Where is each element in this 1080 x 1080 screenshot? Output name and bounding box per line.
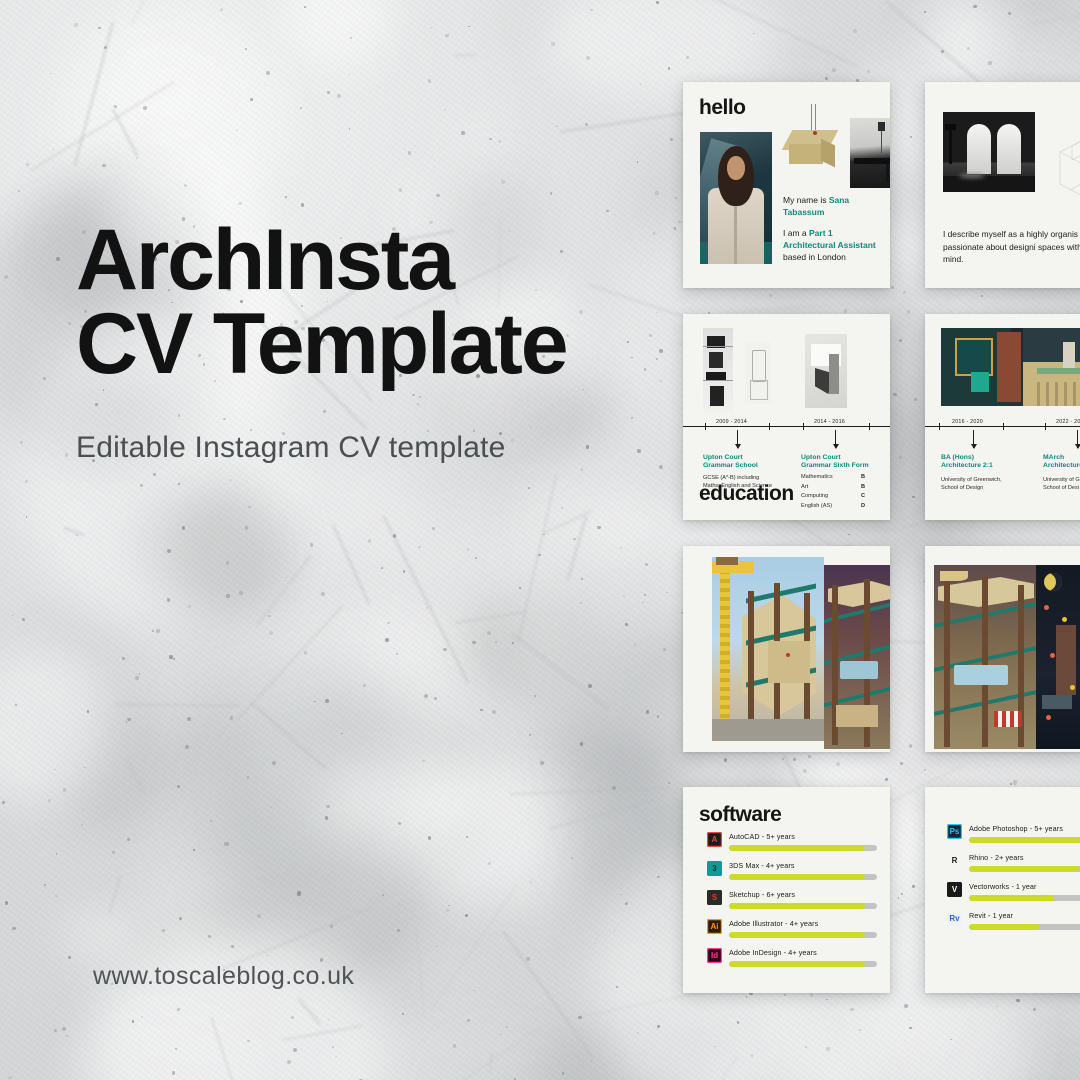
photoshop-icon: Ps bbox=[947, 824, 962, 839]
software-row[interactable]: VVectorworks - 1 year bbox=[947, 881, 1080, 901]
sketchup-icon: S bbox=[707, 890, 722, 905]
page-title: ArchInsta CV Template bbox=[76, 218, 696, 387]
role-line: I am a Part 1 Architectural Assistant ba… bbox=[783, 227, 883, 263]
hello-title: hello bbox=[699, 96, 746, 120]
revit-icon: Rv bbox=[947, 911, 962, 926]
rhino-icon: R bbox=[947, 853, 962, 868]
education-institution-4: MArch Architecture bbox=[1043, 454, 1080, 471]
software-label: Adobe Photoshop - 5+ years bbox=[969, 824, 1080, 833]
website-url: www.toscaleblog.co.uk bbox=[93, 962, 354, 991]
education-institution-3: BA (Hons) Architecture 2:1 bbox=[941, 454, 993, 471]
education-institution-1: Upton Court Grammar School bbox=[703, 454, 758, 471]
illustrator-icon: Ai bbox=[707, 919, 722, 934]
education-timeline-left bbox=[683, 426, 890, 427]
card-software-right[interactable]: PsAdobe Photoshop - 5+ yearsRRhino - 2+ … bbox=[925, 787, 1080, 993]
software-list-left: AAutoCAD - 5+ years33DS Max - 4+ yearsSS… bbox=[707, 831, 877, 976]
software-proficiency-bar bbox=[969, 866, 1080, 872]
software-row-body: Sketchup - 6+ years bbox=[729, 889, 877, 909]
portrait-photo bbox=[700, 132, 772, 264]
card-education-left[interactable]: 2009 - 2014 2014 - 2016 Upton Court Gram… bbox=[683, 314, 890, 520]
software-proficiency-fill bbox=[729, 932, 865, 938]
education-grades-list: MathematicsBArtBComputingCEnglish (AS)D bbox=[801, 473, 887, 511]
autocad-icon: A bbox=[707, 832, 722, 847]
software-label: Rhino - 2+ years bbox=[969, 853, 1080, 862]
grade-subject: English (AS) bbox=[801, 502, 832, 512]
grade-mark: C bbox=[861, 492, 887, 502]
card-portfolio-left[interactable] bbox=[683, 546, 890, 752]
software-proficiency-fill bbox=[969, 895, 1054, 901]
grade-subject: Computing bbox=[801, 492, 828, 502]
card-software-left[interactable]: software AAutoCAD - 5+ years33DS Max - 4… bbox=[683, 787, 890, 993]
card-about[interactable]: I describe myself as a highly organis in… bbox=[925, 82, 1080, 288]
grade-subject: Mathematics bbox=[801, 473, 833, 483]
card-hello[interactable]: hello My name is Sana Tabassum I am a Pa… bbox=[683, 82, 890, 288]
software-proficiency-fill bbox=[729, 961, 865, 967]
education-title: education bbox=[699, 482, 794, 506]
education-dates-1: 2009 - 2014 bbox=[713, 419, 750, 425]
software-proficiency-fill bbox=[969, 837, 1080, 843]
software-proficiency-bar bbox=[729, 874, 877, 880]
software-label: Vectorworks - 1 year bbox=[969, 882, 1080, 891]
software-row-body: AutoCAD - 5+ years bbox=[729, 831, 877, 851]
software-label: AutoCAD - 5+ years bbox=[729, 832, 877, 841]
name-line: My name is Sana Tabassum bbox=[783, 194, 883, 218]
education-render-image bbox=[941, 328, 1080, 406]
suspended-model-icon bbox=[783, 104, 843, 174]
software-row[interactable]: RRhino - 2+ years bbox=[947, 852, 1080, 872]
grade-mark: D bbox=[861, 502, 887, 512]
card-education-right[interactable]: 2016 - 2020 2022 - 2023 BA (Hons) Archit… bbox=[925, 314, 1080, 520]
education-image-2 bbox=[745, 342, 771, 404]
isometric-drawing-icon bbox=[1050, 106, 1080, 226]
software-row-body: Revit - 1 year bbox=[969, 910, 1080, 930]
software-proficiency-bar bbox=[729, 932, 877, 938]
software-row[interactable]: SSketchup - 6+ years bbox=[707, 889, 877, 909]
software-row[interactable]: RvRevit - 1 year bbox=[947, 910, 1080, 930]
software-proficiency-fill bbox=[729, 845, 865, 851]
software-proficiency-fill bbox=[969, 924, 1040, 930]
hello-body-text: My name is Sana Tabassum I am a Part 1 A… bbox=[783, 194, 883, 272]
vectorworks-icon: V bbox=[947, 882, 962, 897]
concrete-background bbox=[0, 0, 1080, 1080]
isometric-render-night bbox=[1036, 565, 1080, 749]
software-label: 3DS Max - 4+ years bbox=[729, 861, 877, 870]
software-title: software bbox=[699, 803, 781, 827]
education-dates-3: 2016 - 2020 bbox=[949, 419, 986, 425]
card-portfolio-right[interactable] bbox=[925, 546, 1080, 752]
software-proficiency-fill bbox=[969, 866, 1079, 872]
software-proficiency-bar bbox=[969, 924, 1080, 930]
arched-windows-photo bbox=[943, 112, 1035, 192]
education-description-4: University of G School of Desi bbox=[1043, 476, 1080, 492]
software-proficiency-bar bbox=[729, 845, 877, 851]
grade-row: ArtB bbox=[801, 483, 887, 493]
isometric-render-dusk bbox=[824, 565, 890, 749]
software-proficiency-bar bbox=[969, 837, 1080, 843]
education-image-1 bbox=[703, 328, 733, 414]
page-subtitle: Editable Instagram CV template bbox=[76, 431, 696, 465]
software-row[interactable]: IdAdobe InDesign - 4+ years bbox=[707, 947, 877, 967]
isometric-render-interior bbox=[934, 565, 1036, 749]
education-description-3: University of Greenwich, School of Desig… bbox=[941, 476, 1002, 492]
software-row-body: 3DS Max - 4+ years bbox=[729, 860, 877, 880]
education-institution-2: Upton Court Grammar Sixth Form bbox=[801, 454, 869, 471]
grade-row: MathematicsB bbox=[801, 473, 887, 483]
studio-photo bbox=[850, 118, 890, 188]
software-proficiency-bar bbox=[969, 895, 1080, 901]
grade-subject: Art bbox=[801, 483, 808, 493]
software-row-body: Vectorworks - 1 year bbox=[969, 881, 1080, 901]
education-dates-4: 2022 - 2023 bbox=[1053, 419, 1080, 425]
grade-mark: B bbox=[861, 483, 887, 493]
software-label: Adobe InDesign - 4+ years bbox=[729, 948, 877, 957]
grade-mark: B bbox=[861, 473, 887, 483]
software-proficiency-bar bbox=[729, 961, 877, 967]
grade-row: ComputingC bbox=[801, 492, 887, 502]
software-label: Adobe Illustrator - 4+ years bbox=[729, 919, 877, 928]
isometric-render-day bbox=[712, 557, 824, 741]
software-proficiency-fill bbox=[729, 874, 865, 880]
software-row[interactable]: 33DS Max - 4+ years bbox=[707, 860, 877, 880]
software-label: Sketchup - 6+ years bbox=[729, 890, 877, 899]
hero-text-block: ArchInsta CV Template Editable Instagram… bbox=[76, 218, 696, 465]
software-proficiency-fill bbox=[729, 903, 865, 909]
software-row-body: Adobe InDesign - 4+ years bbox=[729, 947, 877, 967]
background-grain bbox=[0, 0, 1080, 1080]
3dsmax-icon: 3 bbox=[707, 861, 722, 876]
software-list-right: PsAdobe Photoshop - 5+ yearsRRhino - 2+ … bbox=[947, 823, 1080, 939]
software-proficiency-bar bbox=[729, 903, 877, 909]
software-row-body: Rhino - 2+ years bbox=[969, 852, 1080, 872]
software-label: Revit - 1 year bbox=[969, 911, 1080, 920]
about-body-text: I describe myself as a highly organis in… bbox=[943, 228, 1080, 266]
software-row[interactable]: PsAdobe Photoshop - 5+ years bbox=[947, 823, 1080, 843]
software-row[interactable]: AAutoCAD - 5+ years bbox=[707, 831, 877, 851]
grade-row: English (AS)D bbox=[801, 502, 887, 512]
software-row[interactable]: AiAdobe Illustrator - 4+ years bbox=[707, 918, 877, 938]
education-dates-2: 2014 - 2016 bbox=[811, 419, 848, 425]
software-row-body: Adobe Illustrator - 4+ years bbox=[729, 918, 877, 938]
education-image-3 bbox=[805, 334, 847, 408]
software-row-body: Adobe Photoshop - 5+ years bbox=[969, 823, 1080, 843]
indesign-icon: Id bbox=[707, 948, 722, 963]
